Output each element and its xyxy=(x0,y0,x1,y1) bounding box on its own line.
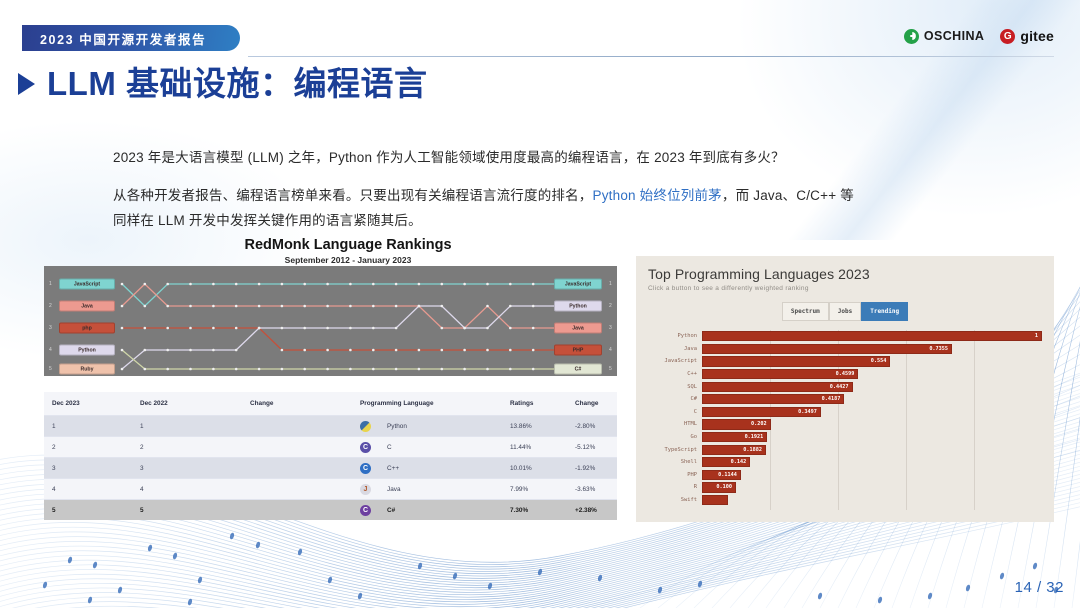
ieee-bar-label: C xyxy=(648,409,702,415)
ieee-bar: 0.7355 xyxy=(702,344,952,354)
ieee-bar-value: 0.7355 xyxy=(929,346,951,352)
cell-language: Java xyxy=(360,484,510,495)
cell-rank-2022: 1 xyxy=(140,423,250,430)
ieee-bar-label: PHP xyxy=(648,472,702,478)
redmonk-chart: 12345 12345 JavaScriptJavaphpPythonRuby … xyxy=(44,266,617,376)
ieee-bar-label: C++ xyxy=(648,371,702,377)
ieee-bar: 0.4599 xyxy=(702,369,858,379)
ieee-bar-row: TypeScript0.1882 xyxy=(648,443,1042,456)
ieee-bar-track: 0.7355 xyxy=(702,344,1042,354)
ieee-bar-row: PHP0.1144 xyxy=(648,469,1042,482)
ieee-bar-label: R xyxy=(648,484,702,490)
redmonk-right-label: C# xyxy=(554,364,602,375)
ieee-bar-track: 0.4187 xyxy=(702,394,1042,404)
ieee-bar-value: 0.4599 xyxy=(836,371,858,377)
ieee-ranking-buttons: SpectrumJobsTrending xyxy=(648,302,1042,321)
redmonk-left-label: Java xyxy=(59,301,115,312)
ieee-bar-track: 0.4599 xyxy=(702,369,1042,379)
ieee-bar-row: Go0.1921 xyxy=(648,431,1042,444)
ieee-bar-row: Java0.7355 xyxy=(648,343,1042,356)
detail-paragraph-part-b: ，而 Java、C/C++ 等 xyxy=(722,188,854,203)
ieee-bar: 0.1921 xyxy=(702,432,767,442)
cell-rank-2022: 3 xyxy=(140,465,250,472)
ribbon-label: 2023 中国开源开发者报告 xyxy=(40,29,206,48)
ieee-bar-row: Swift xyxy=(648,494,1042,507)
ieee-bar-value: 0.4427 xyxy=(830,384,852,390)
cell-change: -2.80% xyxy=(575,423,625,430)
brand-logos: OSCHINA gitee xyxy=(904,28,1054,44)
ieee-bar-value: 0.3497 xyxy=(798,409,820,415)
ieee-bar-value: 0.1144 xyxy=(718,472,740,478)
ieee-spectrum-panel: Top Programming Languages 2023 Click a b… xyxy=(636,256,1054,522)
language-name: C# xyxy=(387,507,395,514)
redmonk-right-label: JavaScript xyxy=(554,279,602,290)
ieee-bar-label: TypeScript xyxy=(648,447,702,453)
ieee-bar-value: 0.100 xyxy=(716,484,735,490)
csharp-logo-icon xyxy=(360,505,371,516)
detail-paragraph-part-a: 从各种开发者报告、编程语言榜单来看。只要出现有关编程语言流行度的排名， xyxy=(113,188,593,203)
ieee-title: Top Programming Languages 2023 xyxy=(648,266,1042,282)
ieee-bar-value: 0.1921 xyxy=(745,434,767,440)
oschina-brand: OSCHINA xyxy=(904,29,984,44)
java-logo-icon xyxy=(360,484,371,495)
ieee-bar-row: HTML0.202 xyxy=(648,418,1042,431)
redmonk-left-label: Python xyxy=(59,345,115,356)
ieee-bar-value: 1 xyxy=(1035,333,1041,339)
c-logo-icon xyxy=(360,442,371,453)
slide-title-row: LLM 基础设施：编程语言 xyxy=(18,66,427,102)
ieee-bar: 0.202 xyxy=(702,419,771,429)
cell-rank-2023: 5 xyxy=(52,507,140,514)
ieee-bar-track: 0.3497 xyxy=(702,407,1042,417)
oschina-logo-icon xyxy=(904,29,919,44)
ieee-bar-track: 0.4427 xyxy=(702,382,1042,392)
gitee-logo-icon xyxy=(1000,29,1015,44)
ieee-bar-label: C# xyxy=(648,396,702,402)
cell-language: C xyxy=(360,442,510,453)
table-row[interactable]: 55C#7.30%+2.38% xyxy=(44,499,617,520)
column-header-ratings: Ratings xyxy=(510,400,575,407)
ieee-bar: 1 xyxy=(702,331,1042,341)
oschina-label: OSCHINA xyxy=(924,29,984,43)
cell-rank-2023: 4 xyxy=(52,486,140,493)
report-ribbon: 2023 中国开源开发者报告 xyxy=(22,25,240,51)
column-header-dec2023: Dec 2023 xyxy=(52,400,140,407)
cell-rank-2022: 2 xyxy=(140,444,250,451)
ieee-bar-track: 0.554 xyxy=(702,356,1042,366)
ieee-bar: 0.4427 xyxy=(702,382,853,392)
ieee-button-jobs[interactable]: Jobs xyxy=(829,302,861,321)
cell-rank-2022: 5 xyxy=(140,507,250,514)
ieee-bar-track xyxy=(702,495,1042,505)
ieee-bar-track: 0.1921 xyxy=(702,432,1042,442)
cell-change: -3.63% xyxy=(575,486,625,493)
ieee-bar-row: R0.100 xyxy=(648,481,1042,494)
ieee-bar-track: 0.142 xyxy=(702,457,1042,467)
ieee-bar-row: Python1 xyxy=(648,330,1042,343)
ieee-bar-track: 1 xyxy=(702,331,1042,341)
ieee-bar-row: C++0.4599 xyxy=(648,368,1042,381)
ieee-button-spectrum[interactable]: Spectrum xyxy=(782,302,829,321)
ieee-bar-label: Swift xyxy=(648,497,702,503)
ieee-bar-label: Go xyxy=(648,434,702,440)
ieee-bar: 0.554 xyxy=(702,356,890,366)
column-header-change: Change xyxy=(575,400,625,407)
ieee-bar-row: C0.3497 xyxy=(648,406,1042,419)
cell-language: C# xyxy=(360,505,510,516)
ieee-bar: 0.3497 xyxy=(702,407,821,417)
redmonk-heading: RedMonk Language Rankings September 2012… xyxy=(183,237,513,265)
cell-rank-2023: 3 xyxy=(52,465,140,472)
ieee-bar-label: Shell xyxy=(648,459,702,465)
language-name: Java xyxy=(387,486,401,493)
tiobe-table: Dec 2023 Dec 2022 Change Programming Lan… xyxy=(44,392,617,520)
cell-rank-2023: 2 xyxy=(52,444,140,451)
ieee-bar-label: Python xyxy=(648,333,702,339)
ieee-bar-label: SQL xyxy=(648,384,702,390)
redmonk-left-label: php xyxy=(59,323,115,334)
table-row[interactable]: 11Python13.86%-2.80% xyxy=(44,415,617,436)
ieee-bar-track: 0.1144 xyxy=(702,470,1042,480)
tiobe-table-header: Dec 2023 Dec 2022 Change Programming Lan… xyxy=(44,392,617,415)
ieee-bar-row: Shell0.142 xyxy=(648,456,1042,469)
redmonk-right-label: Python xyxy=(554,301,602,312)
ieee-button-trending[interactable]: Trending xyxy=(861,302,908,321)
ieee-bar-value: 0.142 xyxy=(731,459,750,465)
ieee-bar-value: 0.4187 xyxy=(822,396,844,402)
ieee-bar-track: 0.202 xyxy=(702,419,1042,429)
intro-paragraph: 2023 年是大语言模型 (LLM) 之年，Python 作为人工智能领域使用度… xyxy=(113,146,785,171)
cell-ratings: 7.99% xyxy=(510,486,575,493)
ieee-bar: 0.1144 xyxy=(702,470,741,480)
ieee-bar-label: JavaScript xyxy=(648,358,702,364)
gitee-brand: gitee xyxy=(1000,28,1054,44)
redmonk-left-label: JavaScript xyxy=(59,279,115,290)
cell-rank-2022: 4 xyxy=(140,486,250,493)
redmonk-title: RedMonk Language Rankings xyxy=(183,237,513,253)
table-row[interactable]: 44Java7.99%-3.63% xyxy=(44,478,617,499)
cell-ratings: 13.86% xyxy=(510,423,575,430)
redmonk-lines-svg xyxy=(44,266,617,376)
ieee-bar xyxy=(702,495,728,505)
ieee-bar-label: Java xyxy=(648,346,702,352)
ieee-bar-value: 0.1882 xyxy=(743,447,765,453)
ieee-bar: 0.100 xyxy=(702,482,736,492)
detail-paragraph: 从各种开发者报告、编程语言榜单来看。只要出现有关编程语言流行度的排名，Pytho… xyxy=(113,184,973,234)
ieee-bar-value: 0.554 xyxy=(871,358,890,364)
cell-change: +2.38% xyxy=(575,507,625,514)
detail-paragraph-part-c: 同样在 LLM 开发中发挥关键作用的语言紧随其后。 xyxy=(113,213,422,228)
table-row[interactable]: 22C11.44%-5.12% xyxy=(44,436,617,457)
column-header-language: Programming Language xyxy=(360,400,510,407)
ieee-bar: 0.1882 xyxy=(702,445,766,455)
redmonk-subtitle: September 2012 - January 2023 xyxy=(183,255,513,265)
column-header-change-rank: Change xyxy=(250,400,360,407)
cell-language: C++ xyxy=(360,463,510,474)
cell-ratings: 11.44% xyxy=(510,444,575,451)
cell-change: -5.12% xyxy=(575,444,625,451)
cpp-logo-icon xyxy=(360,463,371,474)
python-highlight: Python 始终位列前茅 xyxy=(593,188,722,203)
ieee-bar-track: 0.100 xyxy=(702,482,1042,492)
language-name: Python xyxy=(387,423,407,430)
ieee-bar-row: SQL0.4427 xyxy=(648,380,1042,393)
column-header-dec2022: Dec 2022 xyxy=(140,400,250,407)
ieee-bar-chart: Python1Java0.7355JavaScript0.554C++0.459… xyxy=(648,330,1042,510)
ieee-bar-track: 0.1882 xyxy=(702,445,1042,455)
header-divider xyxy=(248,56,1054,57)
cell-ratings: 10.01% xyxy=(510,465,575,472)
cell-language: Python xyxy=(360,421,510,432)
cell-ratings: 7.30% xyxy=(510,507,575,514)
title-arrow-icon xyxy=(18,73,35,95)
ieee-bar-value: 0.202 xyxy=(751,421,770,427)
python-logo-icon xyxy=(360,421,371,432)
ieee-bar: 0.142 xyxy=(702,457,750,467)
ieee-bar: 0.4187 xyxy=(702,394,844,404)
ieee-subtitle: Click a button to see a differently weig… xyxy=(648,285,1042,292)
ieee-bar-label: HTML xyxy=(648,421,702,427)
page-header: 2023 中国开源开发者报告 OSCHINA gitee xyxy=(0,0,1080,60)
cell-rank-2023: 1 xyxy=(52,423,140,430)
ieee-bar-row: JavaScript0.554 xyxy=(648,355,1042,368)
redmonk-right-label: Java xyxy=(554,323,602,334)
redmonk-left-label: Ruby xyxy=(59,364,115,375)
language-name: C xyxy=(387,444,392,451)
ieee-bar-row: C#0.4187 xyxy=(648,393,1042,406)
page-title: LLM 基础设施：编程语言 xyxy=(47,66,427,102)
cell-change: -1.92% xyxy=(575,465,625,472)
table-row[interactable]: 33C++10.01%-1.92% xyxy=(44,457,617,478)
language-name: C++ xyxy=(387,465,399,472)
gitee-label: gitee xyxy=(1020,28,1054,44)
page-number: 14 / 32 xyxy=(1015,579,1064,596)
redmonk-right-label: PHP xyxy=(554,345,602,356)
